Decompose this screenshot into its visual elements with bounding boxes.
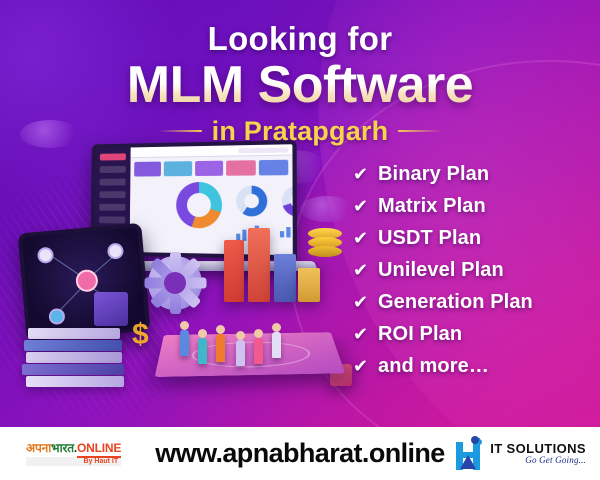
bar-red-2 bbox=[248, 228, 270, 302]
dashboard-donut-chart-2 bbox=[236, 186, 267, 217]
headline-line-3: in Pratapgarh bbox=[212, 116, 389, 147]
gear-icon bbox=[148, 256, 202, 310]
feature-label: Unilevel Plan bbox=[378, 259, 504, 282]
feature-item: ✔ Unilevel Plan bbox=[352, 256, 533, 284]
hero-illustration: $ bbox=[8, 132, 358, 410]
book-2 bbox=[24, 340, 122, 351]
person-4 bbox=[236, 340, 245, 366]
feature-label: and more… bbox=[378, 355, 489, 378]
feature-label: ROI Plan bbox=[378, 323, 462, 346]
feature-item: ✔ ROI Plan bbox=[352, 320, 533, 348]
bar-red-1 bbox=[224, 240, 244, 302]
dashboard-stat-cards bbox=[130, 156, 292, 179]
it-solutions-text: IT SOLUTIONS Go Get Going... bbox=[490, 442, 586, 465]
feature-item: ✔ Matrix Plan bbox=[352, 192, 533, 220]
dollar-sign-icon: $ bbox=[132, 318, 149, 352]
book-3 bbox=[26, 352, 122, 363]
cube-purple bbox=[94, 292, 128, 326]
bar-gold-1 bbox=[298, 268, 320, 302]
promo-poster: Looking for MLM Software in Pratapgarh bbox=[0, 0, 600, 480]
rule-left bbox=[158, 130, 202, 132]
book-4 bbox=[22, 364, 124, 375]
feature-label: Matrix Plan bbox=[378, 195, 486, 218]
feature-label: USDT Plan bbox=[378, 227, 481, 250]
feature-list: ✔ Binary Plan ✔ Matrix Plan ✔ USDT Plan … bbox=[352, 160, 533, 384]
it-solutions-logo[interactable]: IT SOLUTIONS Go Get Going... bbox=[454, 438, 586, 470]
footer-bar: अपनाभारत.ONLINE By Haut IT www.apnabhara… bbox=[0, 427, 600, 480]
feature-item: ✔ and more… bbox=[352, 352, 533, 380]
check-icon: ✔ bbox=[352, 325, 369, 343]
person-3 bbox=[216, 334, 225, 362]
feature-item: ✔ USDT Plan bbox=[352, 224, 533, 252]
network-node-3 bbox=[48, 308, 65, 325]
book-1 bbox=[28, 328, 120, 339]
network-node-2 bbox=[107, 242, 124, 259]
feature-item: ✔ Generation Plan bbox=[352, 288, 533, 316]
person-2 bbox=[198, 338, 207, 364]
tablet-device bbox=[18, 223, 151, 341]
feature-label: Binary Plan bbox=[378, 163, 489, 186]
h-monogram-icon bbox=[454, 438, 484, 470]
coin-stack-bottom bbox=[308, 246, 342, 257]
check-icon: ✔ bbox=[352, 197, 369, 215]
rule-right bbox=[398, 130, 442, 132]
feature-label: Generation Plan bbox=[378, 291, 533, 314]
dashboard-donut-chart-1 bbox=[176, 182, 222, 229]
it-solutions-tagline: Go Get Going... bbox=[490, 456, 586, 465]
person-6 bbox=[272, 332, 281, 358]
headline-block: Looking for MLM Software in Pratapgarh bbox=[0, 22, 600, 147]
person-5 bbox=[254, 338, 263, 364]
dashboard-donut-chart-3 bbox=[282, 185, 297, 216]
check-icon: ✔ bbox=[352, 357, 369, 375]
it-solutions-name: IT SOLUTIONS bbox=[490, 442, 586, 456]
headline-line-1: Looking for bbox=[0, 22, 600, 55]
bar-blue-1 bbox=[274, 254, 296, 302]
person-1 bbox=[180, 330, 189, 356]
check-icon: ✔ bbox=[352, 165, 369, 183]
dashboard-bar-chart-2 bbox=[280, 217, 297, 238]
check-icon: ✔ bbox=[352, 293, 369, 311]
headline-line-3-row: in Pratapgarh bbox=[0, 116, 600, 147]
check-icon: ✔ bbox=[352, 261, 369, 279]
check-icon: ✔ bbox=[352, 229, 369, 247]
headline-line-2: MLM Software bbox=[0, 59, 600, 113]
network-node-1 bbox=[37, 247, 54, 264]
book-5 bbox=[26, 376, 124, 387]
feature-item: ✔ Binary Plan bbox=[352, 160, 533, 188]
